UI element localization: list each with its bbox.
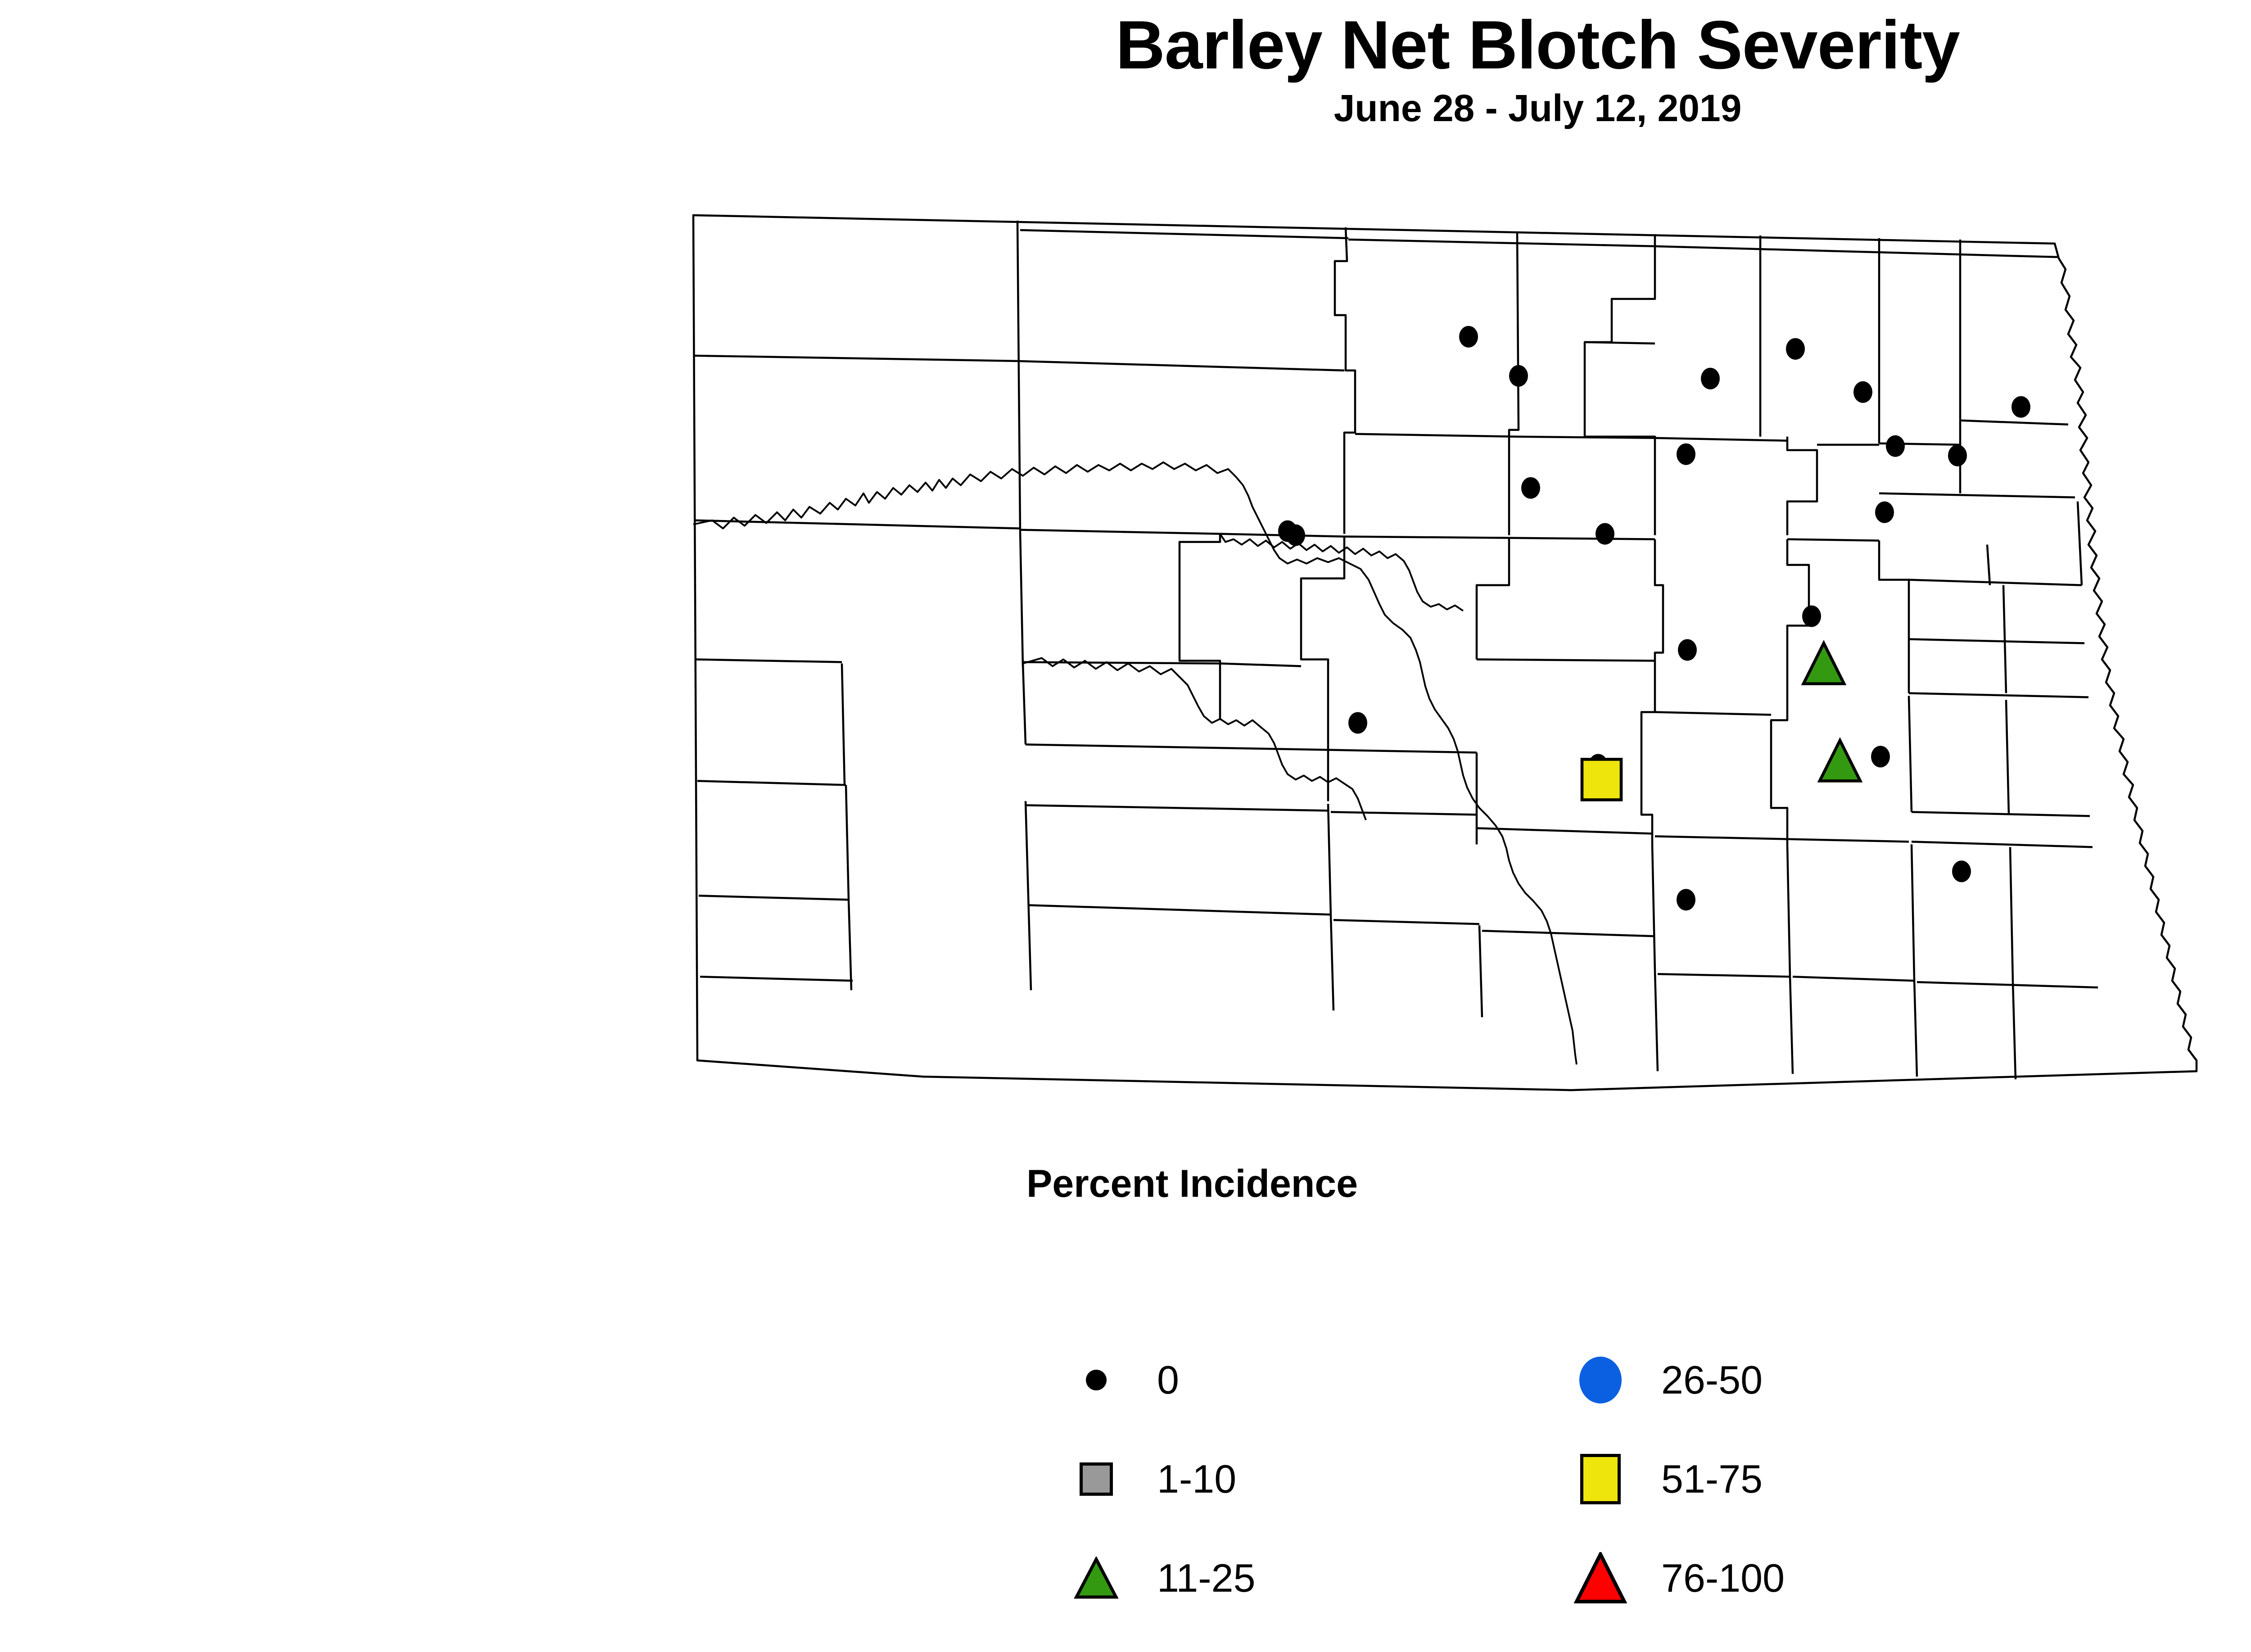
legend-label: 51-75 — [1661, 1436, 1763, 1522]
legend-label: 11-25 — [1157, 1535, 1256, 1621]
map-marker-dot — [1786, 338, 1805, 360]
map-marker-dot — [1596, 523, 1614, 545]
gray-square-icon — [1053, 1436, 1139, 1522]
red-triangle-svg — [1574, 1552, 1627, 1604]
county-outlines — [693, 215, 2197, 1090]
map-marker-dot — [1521, 477, 1540, 499]
map-marker-dot — [1802, 606, 1821, 627]
legend-label: 1-10 — [1157, 1436, 1236, 1522]
title-block: Barley Net Blotch Severity June 28 - Jul… — [0, 0, 2251, 127]
map-marker-dot — [1875, 502, 1894, 523]
legend: Percent Incidence 0 1-10 11-25 — [1026, 1162, 2107, 1639]
page-subtitle: June 28 - July 12, 2019 — [0, 89, 2251, 127]
map-marker-dot — [1701, 368, 1720, 389]
map-marker-dot — [1348, 712, 1367, 733]
map-marker-dot — [1286, 525, 1305, 546]
legend-label: 26-50 — [1661, 1337, 1763, 1423]
green-triangle-svg — [1074, 1557, 1119, 1600]
map-marker-dot — [1677, 889, 1695, 910]
legend-label: 76-100 — [1661, 1535, 1785, 1621]
map-marker-dot — [1886, 435, 1905, 457]
map-marker-dot — [1871, 746, 1890, 767]
map-marker-dot — [1678, 639, 1697, 661]
map-marker-dot — [1509, 365, 1528, 387]
map-svg — [653, 180, 2251, 1162]
yellow-square-icon — [1558, 1436, 1643, 1522]
red-triangle-icon — [1558, 1535, 1643, 1621]
map-marker-dot — [1677, 444, 1695, 465]
green-triangle-icon — [1053, 1535, 1139, 1621]
black-dot-icon — [1053, 1337, 1139, 1423]
page-title: Barley Net Blotch Severity — [0, 11, 2251, 79]
map-marker-dot — [1459, 326, 1478, 348]
legend-title: Percent Incidence — [1026, 1162, 1837, 1206]
blue-circle-icon — [1558, 1337, 1643, 1423]
state-outline — [693, 215, 2197, 1090]
map-marker-dot — [1948, 445, 1967, 466]
north-dakota-county-map — [653, 180, 2251, 1162]
legend-label: 0 — [1157, 1337, 1179, 1423]
map-marker-dot — [2011, 396, 2030, 418]
map-marker-dot — [1952, 860, 1971, 882]
map-marker-dot — [1853, 381, 1872, 403]
map-marker-square — [1582, 759, 1621, 800]
